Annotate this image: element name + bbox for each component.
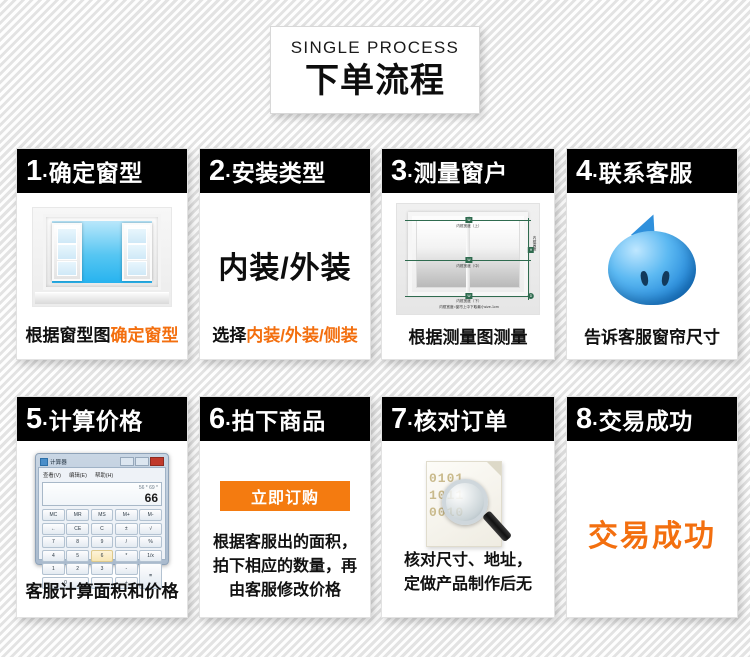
step-card-8[interactable]: 8 . 交易成功 交易成功 — [566, 396, 738, 618]
caption-plain: 选择 — [212, 326, 246, 345]
transaction-success-text: 交易成功 — [588, 511, 716, 555]
page-title-box: SINGLE PROCESS 下单流程 — [270, 26, 480, 114]
step-number: 3 — [391, 157, 407, 186]
caption-plain: 根据窗型图 — [26, 326, 111, 345]
key-multiply[interactable]: * — [115, 550, 138, 562]
step-card-6[interactable]: 6 . 拍下商品 立即订购 根据客服出的面积， 拍下相应的数量，再 由客服修改价… — [199, 396, 371, 618]
minimize-button[interactable] — [120, 457, 134, 466]
step-card-8-body: 交易成功 — [567, 441, 737, 617]
key-sqrt[interactable]: √ — [139, 523, 162, 535]
menu-view[interactable]: 查看(V) — [43, 471, 61, 479]
menu-edit[interactable]: 编辑(E) — [69, 471, 87, 479]
step-card-8-header: 8 . 交易成功 — [567, 397, 737, 441]
key-m-plus[interactable]: M+ — [115, 509, 138, 521]
step-card-3-header: 3 . 测量窗户 — [382, 149, 554, 193]
step-card-1-header: 1 . 确定窗型 — [17, 149, 187, 193]
step-card-6-header: 6 . 拍下商品 — [200, 397, 370, 441]
key-mc[interactable]: MC — [42, 509, 65, 521]
step-card-5-caption: 客服计算面积和价格 — [17, 581, 187, 603]
step-dot: . — [42, 408, 48, 431]
step-title: 交易成功 — [599, 402, 693, 436]
key-5[interactable]: 5 — [66, 550, 89, 562]
step-card-1-body: 根据窗型图确定窗型 — [17, 193, 187, 359]
measure-tag-depth: D — [528, 293, 534, 299]
key-backspace[interactable]: ← — [42, 523, 65, 535]
key-2[interactable]: 2 — [66, 563, 89, 575]
caption-line-1: 根据客服出的面积， — [200, 531, 370, 555]
calculator-menubar: 查看(V) 编辑(E) 帮助(H) — [41, 470, 163, 481]
maximize-button[interactable] — [135, 457, 149, 466]
step-card-6-caption: 根据客服出的面积， 拍下相应的数量，再 由客服修改价格 — [200, 531, 370, 603]
calculator-title-text: 计算器 — [50, 458, 67, 466]
caption-highlight: 内装/外装/侧装 — [246, 326, 357, 345]
step-title: 拍下商品 — [232, 402, 326, 436]
caption-line-2: 定做产品制作后无 — [382, 573, 554, 597]
step-dot: . — [407, 160, 413, 183]
measure-label-note: 内框宽度=窗帘上中下取最小size-1cm — [439, 305, 499, 310]
key-divide[interactable]: / — [115, 536, 138, 548]
key-1[interactable]: 1 — [42, 563, 65, 575]
page-subtitle-en: SINGLE PROCESS — [271, 38, 479, 58]
step-card-5[interactable]: 5 . 计算价格 计算器 查看(V) 编辑(E) — [16, 396, 188, 618]
caption-line-3: 由客服修改价格 — [200, 579, 370, 603]
magnifier-document-icon: 0101 1011 0010 — [420, 457, 516, 553]
step-title: 安装类型 — [232, 154, 326, 188]
step-card-1[interactable]: 1 . 确定窗型 根据窗型图确定窗型 — [16, 148, 188, 360]
step-card-4-body: 告诉客服窗帘尺寸 — [567, 193, 737, 359]
measure-tag-top: W — [465, 217, 472, 223]
step-card-4-caption: 告诉客服窗帘尺寸 — [567, 327, 737, 349]
measure-label-top: 内框宽度（上） — [456, 224, 481, 229]
key-ce[interactable]: CE — [66, 523, 89, 535]
order-now-button[interactable]: 立即订购 — [220, 481, 350, 511]
key-3[interactable]: 3 — [91, 563, 114, 575]
page-title: 下单流程 — [271, 60, 479, 102]
key-percent[interactable]: % — [139, 536, 162, 548]
step-title: 联系客服 — [599, 154, 693, 188]
step-dot: . — [42, 160, 48, 183]
step-dot: . — [225, 160, 231, 183]
step-title: 计算价格 — [49, 402, 143, 436]
step-card-1-caption: 根据窗型图确定窗型 — [17, 325, 187, 347]
step-title: 核对订单 — [414, 402, 508, 436]
step-card-4[interactable]: 4 . 联系客服 告诉客服窗帘尺寸 — [566, 148, 738, 360]
calculator-display: 56 * 69 * 66 — [42, 482, 162, 506]
step-number: 6 — [209, 405, 225, 434]
key-sign[interactable]: ± — [115, 523, 138, 535]
step-card-7-body: 0101 1011 0010 核对尺寸、地址， 定做产品制作后无 — [382, 441, 554, 617]
calculator-value: 66 — [145, 492, 158, 504]
step-card-3-body: W W W H D 内框宽度（上） 内框宽度（中） 内框宽度（下） 内框宽度=窗… — [382, 193, 554, 359]
step-number: 1 — [26, 157, 42, 186]
window-diagram-icon — [32, 207, 172, 307]
step-card-2-body: 内装/外装 选择内装/外装/侧装 — [200, 193, 370, 359]
step-card-4-header: 4 . 联系客服 — [567, 149, 737, 193]
step-dot: . — [225, 408, 231, 431]
step-number: 8 — [576, 405, 592, 434]
step-card-2-header: 2 . 安装类型 — [200, 149, 370, 193]
key-4[interactable]: 4 — [42, 550, 65, 562]
key-9[interactable]: 9 — [91, 536, 114, 548]
key-m-minus[interactable]: M- — [139, 509, 162, 521]
step-card-7-caption: 核对尺寸、地址， 定做产品制作后无 — [382, 549, 554, 597]
key-mr[interactable]: MR — [66, 509, 89, 521]
caption-plain: 根据测量图测量 — [409, 328, 528, 347]
key-6[interactable]: 6 — [91, 550, 114, 562]
menu-help[interactable]: 帮助(H) — [95, 471, 113, 479]
step-number: 7 — [391, 405, 407, 434]
measure-diagram-icon: W W W H D 内框宽度（上） 内框宽度（中） 内框宽度（下） 内框宽度=窗… — [396, 203, 540, 315]
step-title: 确定窗型 — [49, 154, 143, 188]
step-card-5-body: 计算器 查看(V) 编辑(E) 帮助(H) 56 * 69 * — [17, 441, 187, 617]
step-dot: . — [407, 408, 413, 431]
caption-highlight: 确定窗型 — [111, 326, 179, 345]
key-8[interactable]: 8 — [66, 536, 89, 548]
step-card-7[interactable]: 7 . 核对订单 0101 1011 0010 核对尺寸、地址， 定做产品制作后… — [381, 396, 555, 618]
step-card-2[interactable]: 2 . 安装类型 内装/外装 选择内装/外装/侧装 — [199, 148, 371, 360]
key-c[interactable]: C — [91, 523, 114, 535]
step-dot: . — [592, 160, 598, 183]
close-icon[interactable] — [150, 457, 164, 466]
step-card-5-header: 5 . 计算价格 — [17, 397, 187, 441]
steps-row-bottom: 5 . 计算价格 计算器 查看(V) 编辑(E) — [0, 396, 750, 618]
calculator-icon — [40, 458, 48, 466]
steps-row-top: 1 . 确定窗型 根据窗型图确定窗型 2 . 安装类型 — [0, 148, 750, 360]
measure-label-mid: 内框宽度（中） — [456, 264, 481, 269]
install-type-text: 内装/外装 — [218, 243, 351, 287]
caption-plain: 客服计算面积和价格 — [26, 582, 179, 601]
caption-plain: 告诉客服窗帘尺寸 — [584, 328, 720, 347]
caption-line-2: 拍下相应的数量，再 — [200, 555, 370, 579]
key-ms[interactable]: MS — [91, 509, 114, 521]
step-dot: . — [592, 408, 598, 431]
measure-label-height: 内框高度 — [532, 236, 537, 250]
step-card-3[interactable]: 3 . 测量窗户 W W W H D 内框宽度（上） 内框宽度（中） — [381, 148, 555, 360]
key-reciprocal[interactable]: 1/x — [139, 550, 162, 562]
step-card-7-header: 7 . 核对订单 — [382, 397, 554, 441]
step-card-6-body: 立即订购 根据客服出的面积， 拍下相应的数量，再 由客服修改价格 — [200, 441, 370, 617]
measure-label-bottom: 内框宽度（下） — [456, 299, 481, 304]
wangwang-chat-icon — [604, 213, 700, 305]
key-7[interactable]: 7 — [42, 536, 65, 548]
step-title: 测量窗户 — [414, 154, 508, 188]
caption-line-1: 核对尺寸、地址， — [382, 549, 554, 573]
key-minus[interactable]: - — [115, 563, 138, 575]
calculator-window[interactable]: 计算器 查看(V) 编辑(E) 帮助(H) 56 * 69 * — [35, 453, 169, 565]
measure-tag-mid: W — [465, 257, 472, 263]
step-number: 5 — [26, 405, 42, 434]
step-number: 2 — [209, 157, 225, 186]
magnifier-lens — [442, 479, 488, 525]
step-card-3-caption: 根据测量图测量 — [382, 327, 554, 349]
calculator-titlebar: 计算器 — [38, 456, 166, 467]
step-card-2-caption: 选择内装/外装/侧装 — [200, 325, 370, 347]
calculator-keypad: MC MR MS M+ M- ← CE C ± √ 7 8 9 / — [41, 509, 163, 589]
step-number: 4 — [576, 157, 592, 186]
